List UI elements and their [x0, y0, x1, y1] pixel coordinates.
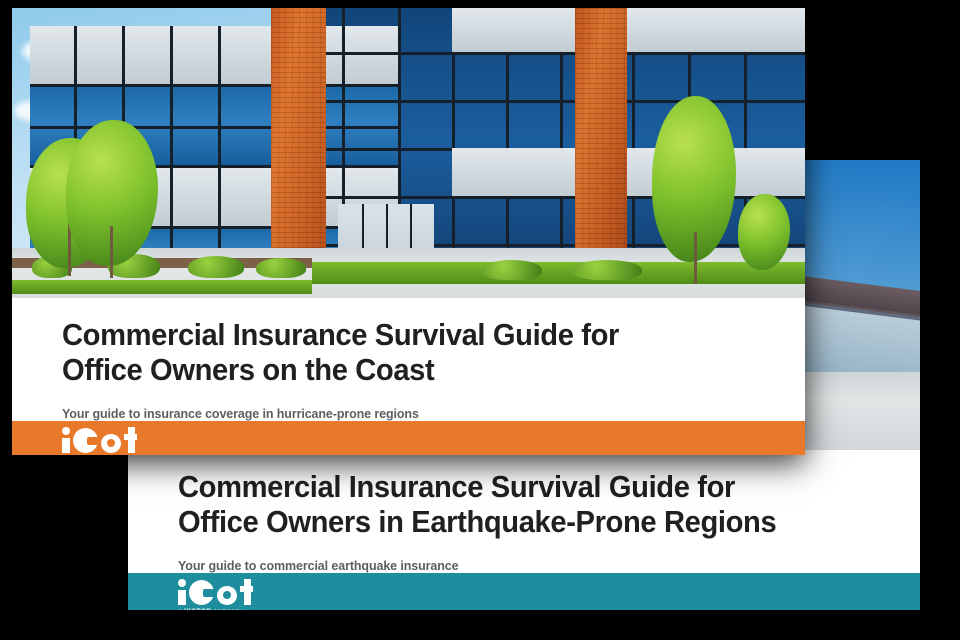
icat-wordmark — [62, 427, 137, 453]
card-title: Commercial Insurance Survival Guide for … — [178, 470, 828, 539]
metal-panel-band-right — [452, 8, 805, 52]
card-footer-earthquake: a VICTOR company — [128, 573, 920, 610]
logo-tagline: a VICTOR company — [178, 608, 253, 610]
shrub — [572, 260, 642, 280]
lawn — [312, 262, 805, 284]
tree-trunk — [110, 226, 113, 278]
card-subtitle: Your guide to insurance coverage in hurr… — [62, 406, 727, 421]
logo-letter-a-icon — [101, 434, 121, 453]
card-footer-coastal: a VICTOR company — [12, 421, 805, 455]
card-text-block-coastal: Commercial Insurance Survival Guide for … — [12, 298, 805, 421]
tagline-suffix: company — [212, 608, 243, 610]
guide-card-coastal[interactable]: Commercial Insurance Survival Guide for … — [12, 8, 805, 455]
logo-letter-i-icon — [62, 427, 70, 453]
card-text-block-earthquake: Commercial Insurance Survival Guide for … — [128, 450, 920, 573]
tree-trunk — [694, 232, 697, 284]
screenshot-stage: Commercial Insurance Survival Guide for … — [0, 0, 960, 640]
tagline-brand: VICTOR — [184, 608, 211, 610]
shrub — [256, 258, 306, 278]
icat-logo[interactable]: a VICTOR company — [62, 427, 137, 455]
lawn — [12, 280, 312, 294]
card-title: Commercial Insurance Survival Guide for … — [62, 318, 713, 387]
card-subtitle: Your guide to commercial earthquake insu… — [178, 558, 842, 573]
brick-column — [575, 8, 627, 264]
logo-letter-t-icon — [124, 427, 137, 453]
logo-letter-a-icon — [217, 586, 237, 605]
shrub — [482, 260, 542, 280]
logo-letter-c-icon — [189, 580, 214, 605]
cover-photo-coastal — [12, 8, 805, 298]
logo-letter-c-icon — [73, 428, 98, 453]
logo-letter-i-icon — [178, 579, 186, 605]
icat-wordmark — [178, 579, 253, 605]
shrub — [188, 256, 244, 278]
logo-letter-t-icon — [240, 579, 253, 605]
icat-logo[interactable]: a VICTOR company — [178, 579, 253, 610]
metal-panel-band-right — [452, 148, 805, 196]
